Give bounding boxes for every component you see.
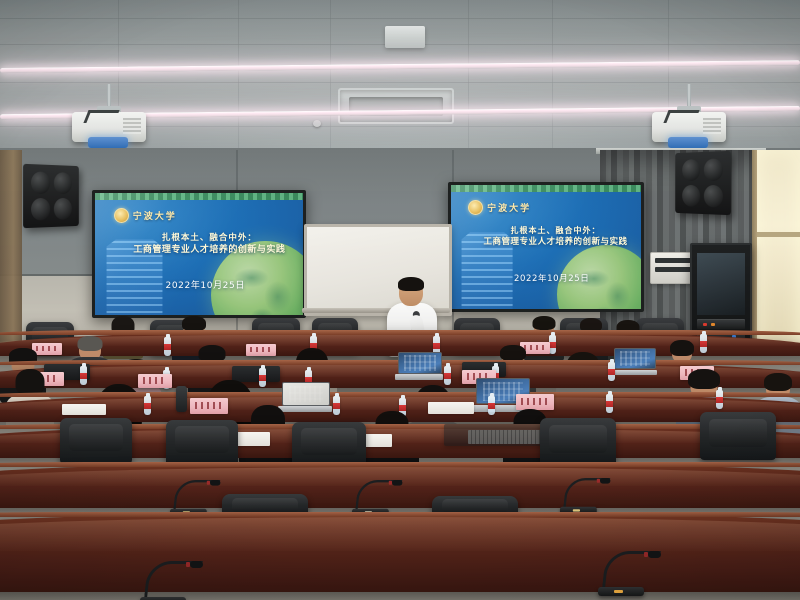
slide-title-right: 扎根本土、融合中外： 工商管理专业人才培养的创新与实践 [481,225,629,249]
slide-date-right: 2022年10月25日 [481,272,622,284]
water-bottle [606,394,613,413]
wall-speaker-left [23,164,79,228]
university-name-right: 宁波大学 [487,201,531,214]
water-bottle [488,396,495,415]
conference-room-photo: 宁波大学 扎根本土、融合中外： 工商管理专业人才培养的创新与实践 2022年10… [0,0,800,600]
water-bottle [333,396,340,415]
wall-pillar-left [0,150,22,360]
name-placard [516,394,554,410]
water-bottle [608,362,615,381]
paper-sheet [62,404,106,415]
chair [540,418,616,466]
university-seal-icon [114,208,129,223]
window-mullion [757,232,800,237]
water-bottle [444,366,451,385]
university-name-left: 宁波大学 [133,209,177,222]
water-bottle [164,337,171,356]
gooseneck-microphone [598,548,672,596]
projection-screen-left: 宁波大学 扎根本土、融合中外： 工商管理专业人才培养的创新与实践 2022年10… [92,190,306,318]
water-bottle [549,335,556,354]
name-placard [246,344,276,356]
name-placard [138,374,172,388]
slide-university-logo: 宁波大学 [114,208,177,223]
slide-title-left: 扎根本土、融合中外： 工商管理专业人才培养的创新与实践 [128,232,290,257]
slide-title-line2: 工商管理专业人才培养的创新与实践 [481,236,629,248]
thermos [176,386,187,412]
slide-title-line1: 扎根本土、融合中外： [481,225,629,237]
paper-sheet [428,402,474,414]
laptop [614,348,654,375]
laptop [398,352,440,380]
gooseneck-microphone [560,477,616,514]
water-bottle [716,390,723,409]
ceiling-fixture-box [385,26,425,48]
slide-university-logo: 宁波大学 [468,200,531,215]
chair [60,418,132,464]
wall-speaker-right [675,151,731,215]
projector-lens-icon [668,137,708,148]
slide-date-left: 2022年10月25日 [128,278,282,291]
desk-monitor [232,366,280,382]
slide-title-line2: 工商管理专业人才培养的创新与实践 [128,244,290,257]
gooseneck-microphone [170,479,226,516]
chair [166,420,238,466]
chair [700,412,776,460]
ceiling-sensor-icon [313,120,321,127]
slide-title-line1: 扎根本土、融合中外： [128,232,290,244]
gooseneck-microphone [140,558,214,600]
water-bottle [144,396,151,415]
desk-row-6 [0,512,800,592]
gooseneck-microphone [352,479,408,516]
projector-right [652,112,726,142]
name-placard [190,398,228,414]
university-seal-icon [468,200,483,215]
projection-screen-right: 宁波大学 扎根本土、融合中外： 工商管理专业人才培养的创新与实践 2022年10… [448,182,644,312]
ac-vent [338,88,454,124]
projector-lens-icon [88,137,128,148]
projector-left [72,112,146,142]
water-bottle [80,366,87,385]
